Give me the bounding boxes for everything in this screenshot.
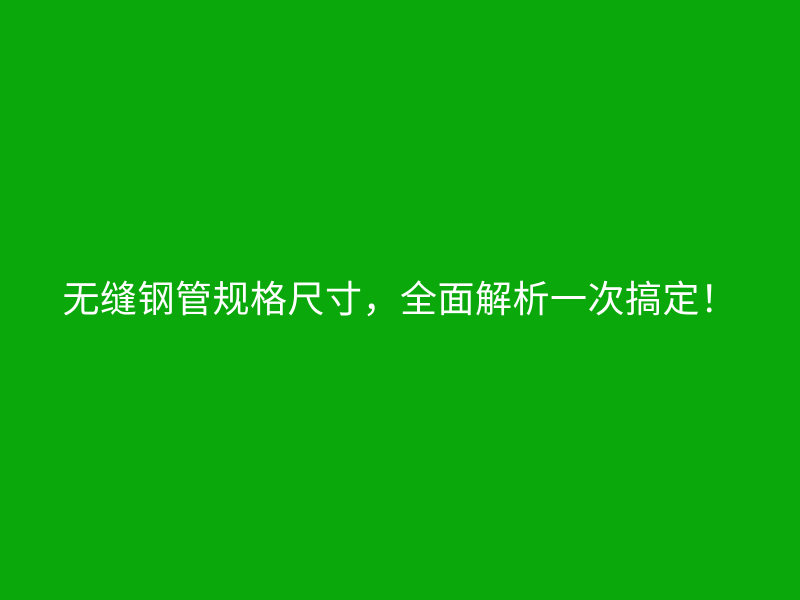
banner-headline-text: 无缝钢管规格尺寸，全面解析一次搞定！ xyxy=(0,278,800,322)
green-banner-background: 无缝钢管规格尺寸，全面解析一次搞定！ xyxy=(0,0,800,600)
